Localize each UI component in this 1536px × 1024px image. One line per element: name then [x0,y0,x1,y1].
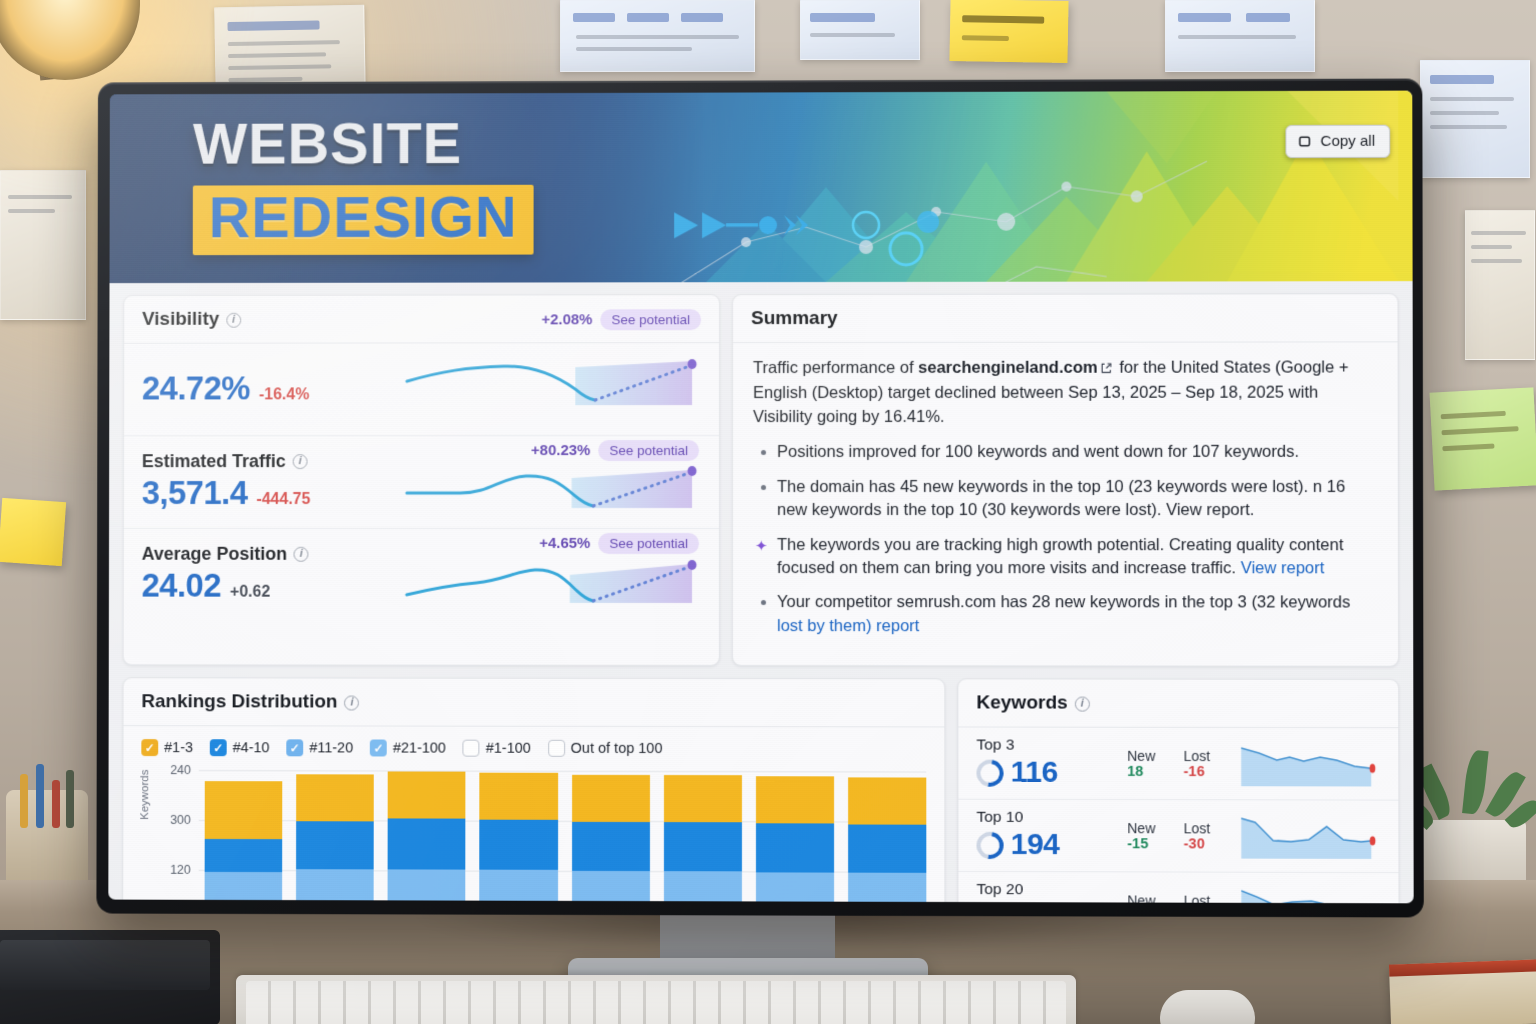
kw-lost-stat: Lost -30 [1184,820,1240,852]
metrics-card: Visibility i +2.08% See potential 24.72%… [123,294,720,666]
pencil [66,770,74,828]
kw-left: Top 10 194 [976,809,1127,863]
kw-sparkline-top10 [1240,812,1380,861]
metric-left: Estimated Traffic i 3,571.4 -444.75 [142,451,405,512]
wall-paper [1420,60,1530,178]
info-icon[interactable]: i [294,546,309,561]
checkbox[interactable]: ✓ [141,739,158,756]
metric-row-traffic: Estimated Traffic i 3,571.4 -444.75 +80.… [124,436,719,529]
keyword-row-top10: Top 10 194 New -15 Lost -30 [958,800,1398,873]
bar-column[interactable] [205,782,283,904]
summary-bullet: The domain has 45 new keywords in the to… [753,476,1378,523]
bullet-dot [761,485,766,490]
y-tick: 120 [151,863,191,877]
legend-item-1-3[interactable]: ✓ #1-3 [141,739,193,756]
metric-value-traffic: 3,571.4 [142,474,248,512]
sticky-note [0,498,66,566]
info-icon[interactable]: i [344,695,359,710]
summary-bullet: Your competitor semrush.com has 28 new k… [753,591,1378,639]
kw-lost-value: -30 [1184,836,1240,852]
rankings-chart: Keywords 240 300 120 0 Sep 12Sep 13Sep 1… [123,762,944,903]
metric-spark-wrap [405,351,701,425]
dashboard-content: Visibility i +2.08% See potential 24.72%… [108,281,1413,903]
metric-delta-position: +0.62 [230,583,270,601]
bar-segment-n1-3[interactable] [296,774,374,822]
kw-lost-label: Lost [1184,892,1240,903]
keywords-card: Keywords i Top 3 116 New 18 [957,679,1399,904]
legend-label: Out of top 100 [571,741,663,757]
potential-pct: +80.23% [531,442,590,459]
summary-body: Traffic performance of searchengineland.… [733,342,1398,666]
bar-column[interactable] [296,774,374,903]
checkbox[interactable]: ✓ [286,740,303,757]
kw-sparkline-wrap [1240,812,1380,861]
bar-segment-n1-3[interactable] [480,773,558,821]
laptop [0,930,220,1024]
bar-segment-n11-20[interactable] [664,871,742,903]
kw-left: Top 3 116 [976,737,1127,790]
y-axis-label: Keywords [139,770,151,820]
metric-row-visibility: 24.72% -16.4% [124,343,719,436]
legend-item-21-100[interactable]: ✓ #21-100 [370,740,446,757]
info-icon[interactable]: i [293,454,308,469]
metric-value-line: 3,571.4 -444.75 [142,474,405,512]
metric-delta-traffic: -444.75 [256,491,310,509]
bar-segment-n1-3[interactable] [388,772,466,819]
kw-new-stat: New +20 [1127,892,1183,903]
bar-segment-n1-3[interactable] [205,782,283,840]
summary-bullet-list: Positions improved for 100 keywords and … [753,441,1378,639]
legend-label: #11-20 [309,740,353,756]
kw-new-stat: New -15 [1127,820,1183,852]
kw-sparkline-top3 [1240,740,1380,789]
bar-segment-n11-20[interactable] [296,870,374,904]
metric-label-line: Estimated Traffic i [142,451,405,472]
kw-lost-label: Lost [1184,748,1240,764]
bar-segment-n1-3[interactable] [572,774,650,822]
pencil [36,764,44,828]
view-report-link[interactable]: View report [1241,559,1325,577]
position-sparkline [405,559,701,613]
checkbox[interactable] [548,740,565,757]
bar-segment-n4-10[interactable] [388,818,466,869]
info-icon[interactable]: i [1075,696,1090,711]
donut-icon [971,826,1009,864]
metric-label-estimated-traffic: Estimated Traffic [142,451,286,472]
legend-item-4-10[interactable]: ✓ #4-10 [210,739,270,756]
bar-column[interactable] [664,775,742,903]
hero-word-redesign-box: REDESIGN [193,185,534,255]
summary-domain[interactable]: searchengineland.com [918,359,1097,377]
keyword-row-top20: Top 20 236 New +20 Lost -20 [958,872,1398,903]
sparkle-icon: ✦ [755,536,768,557]
bar-segment-n11-20[interactable] [205,872,283,904]
bar-segment-n11-20[interactable] [480,870,558,903]
book-stack [1389,959,1536,1024]
summary-bullet-text: Your competitor semrush.com has 28 new k… [777,593,1350,611]
kw-sparkline-top20 [1240,884,1380,903]
visibility-header: Visibility i +2.08% See potential [124,295,719,344]
kw-new-label: New [1127,820,1183,836]
bottom-row: Rankings Distribution i ✓ #1-3 ✓ #4-10 ✓… [122,677,1400,903]
visibility-potential: +2.08% See potential [541,309,701,330]
metric-value-position: 24.02 [142,566,222,604]
kw-tier-label: Top 10 [976,809,1127,827]
kw-count: 236 [1011,900,1060,903]
kw-lost-value: -16 [1184,764,1240,780]
metric-label-line: Average Position i [142,543,405,564]
bar-segment-n4-10[interactable] [296,821,374,869]
legend-label: #4-10 [233,740,270,756]
metric-spark-wrap: +80.23% See potential [405,444,701,518]
monitor-bezel: WEBSITE REDESIGN Copy all Visibility i [96,79,1423,918]
kw-tier-label: Top 20 [977,881,1128,899]
bar-segment-n4-10[interactable] [756,823,834,872]
wall-paper [800,0,920,60]
traffic-sparkline [405,466,701,520]
kw-lost-stat: Lost -20 [1184,892,1240,903]
bar-segment-n4-10[interactable] [848,824,926,873]
metric-spark-wrap: +4.65% See potential [405,537,701,611]
see-potential-button[interactable]: See potential [600,309,701,330]
metric-row-position: Average Position i 24.02 +0.62 +4.65% Se… [124,529,719,627]
rankings-header: Rankings Distribution i [124,678,945,727]
metric-value-visibility: 24.72% [142,370,250,408]
metric-left: Average Position i 24.02 +0.62 [142,543,405,604]
kw-number-line: 116 [976,756,1127,790]
keyword-row-top3: Top 3 116 New 18 Lost -16 [958,728,1398,801]
rankings-legend: ✓ #1-3 ✓ #4-10 ✓ #11-20 ✓ #21-100 [123,726,944,763]
wall-paper [1165,0,1315,72]
kw-count: 116 [1011,756,1058,790]
potential-pct: +4.65% [539,535,590,552]
keywords-title: Keywords [976,693,1067,715]
bullet-dot [761,600,766,605]
legend-item-out-of-top-100[interactable]: Out of top 100 [548,740,663,757]
kw-number-line: 194 [976,828,1127,863]
summary-bullet: Positions improved for 100 keywords and … [753,441,1378,465]
top-row: Visibility i +2.08% See potential 24.72%… [123,293,1399,667]
summary-bullet-insight: ✦ The keywords you are tracking high gro… [753,534,1378,581]
keyboard [236,975,1076,1024]
copy-all-label: Copy all [1320,133,1375,150]
bullet-dot [761,450,766,455]
bar-segment-n1-3[interactable] [848,777,926,824]
summary-title: Summary [751,308,838,330]
summary-intro-pre: Traffic performance of [753,359,918,377]
traffic-potential: +80.23% See potential [531,440,699,461]
keywords-header: Keywords i [958,680,1398,729]
bar-column[interactable] [388,772,466,904]
kw-count: 194 [1011,828,1060,862]
external-link-icon[interactable] [1100,359,1113,382]
summary-intro: Traffic performance of searchengineland.… [753,356,1378,429]
bar-column[interactable] [572,774,650,903]
bar-segment-n11-20[interactable] [572,871,650,903]
metric-label-visibility: Visibility [142,309,219,331]
kw-new-stat: New 18 [1127,748,1183,780]
legend-label: #21-100 [393,740,446,756]
donut-icon [971,754,1009,792]
checkbox[interactable]: ✓ [370,740,387,757]
sticky-note [1430,387,1536,490]
bar-segment-n4-10[interactable] [205,839,283,872]
rankings-title: Rankings Distribution [141,691,337,713]
summary-bullet-text: Positions improved for 100 keywords and … [777,443,1299,461]
wall-paper [1465,210,1535,360]
kw-sparkline-wrap [1240,740,1380,789]
screen: WEBSITE REDESIGN Copy all Visibility i [108,91,1413,904]
kw-left: Top 20 236 [977,881,1128,903]
y-tick: 300 [151,813,191,827]
bar-segment-n1-3[interactable] [664,775,742,822]
bar-segment-n1-3[interactable] [756,776,834,823]
kw-new-label: New [1127,748,1183,764]
bar-segment-n11-20[interactable] [388,869,466,903]
sticky-note [949,0,1068,63]
y-tick: 240 [151,763,191,777]
checkbox[interactable]: ✓ [210,739,227,756]
mouse [1160,990,1255,1024]
wall-paper [0,170,86,320]
bar-column[interactable] [848,777,926,903]
copy-icon [1297,134,1312,149]
metric-left: 24.72% -16.4% [142,369,405,407]
kw-lost-label: Lost [1184,820,1240,836]
info-icon[interactable]: i [226,312,241,327]
summary-card: Summary Traffic performance of searcheng… [732,293,1399,667]
kw-new-value: 18 [1127,764,1183,780]
hero-word-website: WEBSITE [193,115,534,174]
legend-label: #1-3 [164,740,193,756]
kw-tier-label: Top 3 [976,737,1127,755]
pencil [52,780,60,828]
kw-sparkline-wrap [1240,884,1380,903]
position-potential: +4.65% See potential [539,533,699,554]
metric-label-average-position: Average Position [142,543,287,564]
legend-label: #1-100 [486,740,531,756]
pencil [20,774,28,828]
summary-header: Summary [733,294,1398,343]
summary-bullet-text: The domain has 45 new keywords in the to… [777,478,1345,520]
metric-delta-visibility: -16.4% [259,386,309,404]
kw-number-line: 236 [977,900,1128,903]
copy-all-button[interactable]: Copy all [1285,125,1390,158]
kw-new-value: -15 [1127,836,1183,852]
bar-segment-n4-10[interactable] [572,822,650,871]
bar-column[interactable] [480,773,558,904]
see-potential-button[interactable]: See potential [598,533,699,554]
wall-paper [560,0,755,72]
see-potential-button[interactable]: See potential [598,440,699,461]
bar-column[interactable] [756,776,834,903]
hero-banner: WEBSITE REDESIGN Copy all [109,91,1412,284]
hero-title: WEBSITE REDESIGN [193,115,534,255]
legend-item-11-20[interactable]: ✓ #11-20 [286,740,353,757]
metric-value-line: 24.72% -16.4% [142,369,405,407]
bar-group [205,770,927,903]
bar-segment-n4-10[interactable] [664,822,742,871]
metric-value-line: 24.02 +0.62 [142,566,405,604]
legend-item-1-100[interactable]: #1-100 [463,740,531,757]
visibility-sparkline [405,359,701,421]
potential-pct: +2.08% [541,311,592,328]
bar-segment-n4-10[interactable] [480,820,558,870]
lost-by-them-report-link[interactable]: lost by them) report [777,617,919,635]
checkbox[interactable] [463,740,480,757]
bar-segment-n11-20[interactable] [848,873,926,904]
hero-word-redesign: REDESIGN [209,185,518,250]
kw-new-label: New [1127,892,1183,903]
bar-segment-n11-20[interactable] [756,872,834,903]
rankings-distribution-card: Rankings Distribution i ✓ #1-3 ✓ #4-10 ✓… [122,677,945,903]
kw-lost-stat: Lost -16 [1184,748,1240,780]
